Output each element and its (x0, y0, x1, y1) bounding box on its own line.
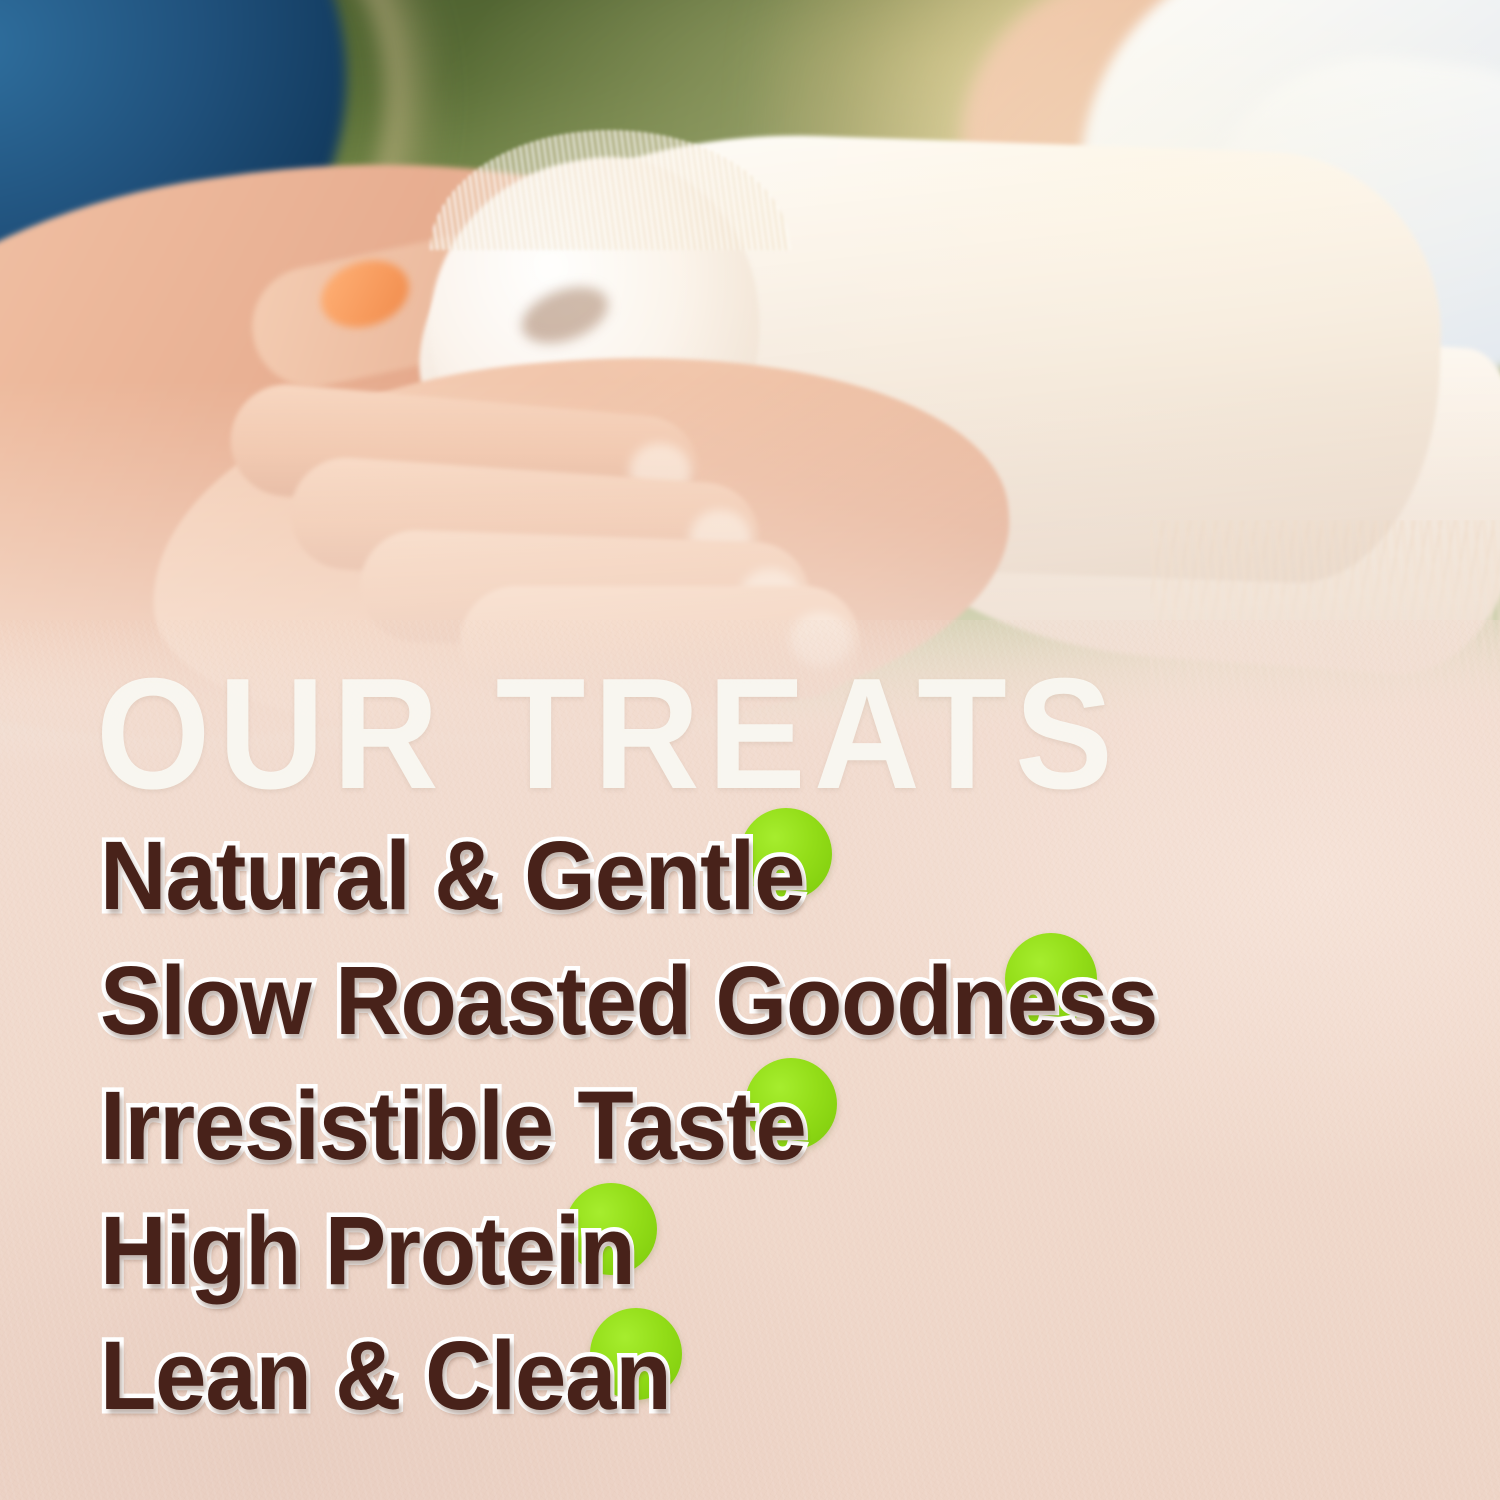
feature-label: Slow Roasted Goodness (100, 951, 1157, 1051)
feature-label: Natural & Gentle (100, 826, 804, 926)
feature-label: High Protein (100, 1201, 635, 1301)
feature-item-irresistible-taste: Irresistible Taste (0, 1076, 1500, 1201)
feature-inner: Natural & Gentle (100, 826, 841, 926)
feature-inner: Lean & Clean (100, 1326, 701, 1426)
feature-item-lean-and-clean: Lean & Clean (0, 1326, 1500, 1451)
feature-label: Irresistible Taste (100, 1076, 806, 1176)
feature-label: Lean & Clean (100, 1326, 671, 1426)
feature-inner: High Protein (100, 1201, 663, 1301)
page-title: OUR TREATS (96, 655, 1121, 813)
feature-item-high-protein: High Protein (0, 1201, 1500, 1326)
poster-content: OUR TREATS Natural & Gentle Slow Roasted… (0, 0, 1500, 1500)
feature-item-slow-roasted-goodness: Slow Roasted Goodness (0, 951, 1500, 1076)
product-feature-poster: OUR TREATS Natural & Gentle Slow Roasted… (0, 0, 1500, 1500)
feature-list: Natural & Gentle Slow Roasted Goodness I… (0, 826, 1500, 1451)
feature-inner: Slow Roasted Goodness (100, 951, 1213, 1051)
feature-item-natural-and-gentle: Natural & Gentle (0, 826, 1500, 951)
feature-inner: Irresistible Taste (100, 1076, 843, 1176)
